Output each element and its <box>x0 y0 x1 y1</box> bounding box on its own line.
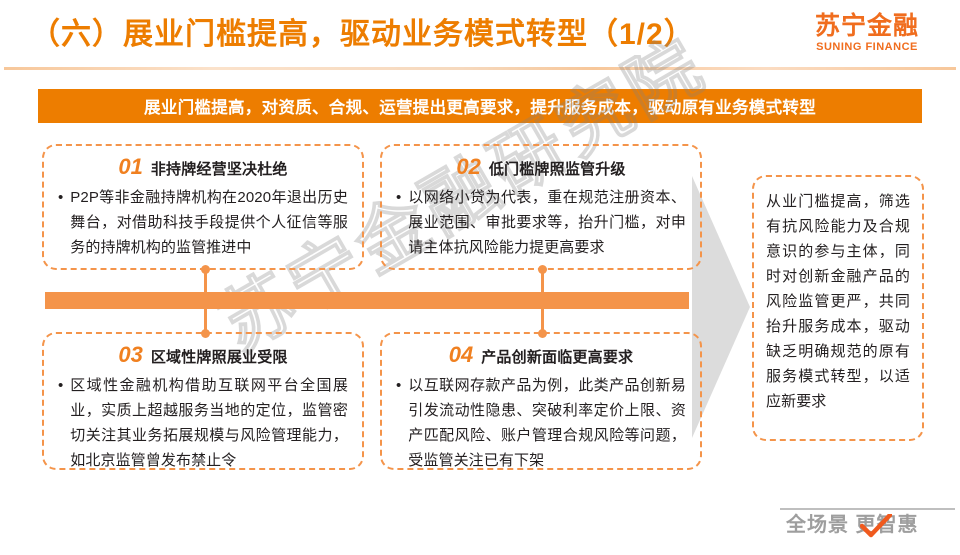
card-02-header: 02 低门槛牌照监管升级 <box>394 155 688 181</box>
footer-slogan-text: 全场景 更智惠 <box>786 512 919 538</box>
content-card-04[interactable]: 04 产品创新面临更高要求 • 以互联网存款产品为例，此类产品创新易引发流动性隐… <box>380 332 702 470</box>
content-card-01[interactable]: 01 非持牌经营坚决杜绝 • P2P等非金融持牌机构在2020年退出历史舞台，对… <box>42 144 364 270</box>
page-header: （六）展业门槛提高，驱动业务模式转型（1/2） 苏宁金融 SUNING FINA… <box>0 0 960 70</box>
card-02-title: 低门槛牌照监管升级 <box>489 159 626 181</box>
card-02-bullet-icon: • <box>396 185 401 210</box>
card-01-title: 非持牌经营坚决杜绝 <box>151 159 288 181</box>
card-03-body: • 区域性金融机构借助互联网平台全国展业，实质上超越服务当地的定位，监管密切关注… <box>56 373 350 473</box>
conclusion-box[interactable]: 从业门槛提高，筛选有抗风险能力及合规意识的参与主体，同时对创新金融产品的风险监管… <box>752 175 924 441</box>
card-04-bullet-icon: • <box>396 373 401 398</box>
card-03-title: 区域性牌照展业受限 <box>151 347 288 369</box>
brand-name-cn: 苏宁金融 <box>792 13 942 40</box>
card-04-text: 以互联网存款产品为例，此类产品创新易引发流动性隐患、突破利率定价上限、资产匹配风… <box>408 373 686 473</box>
card-02-body: • 以网络小贷为代表，重在规范注册资本、展业范围、审批要求等，抬升门槛，对申请主… <box>394 185 688 260</box>
card-01-number: 01 <box>118 155 142 179</box>
card-03-text: 区域性金融机构借助互联网平台全国展业，实质上超越服务当地的定位，监管密切关注其业… <box>70 373 348 473</box>
card-03-bullet-icon: • <box>58 373 63 398</box>
check-icon <box>860 514 892 543</box>
card-04-header: 04 产品创新面临更高要求 <box>394 343 688 369</box>
suning-finance-logo: 苏宁金融 SUNING FINANCE <box>792 13 942 54</box>
card-02-number: 02 <box>456 155 480 179</box>
timeline-bar <box>45 292 689 309</box>
header-divider <box>4 67 956 70</box>
page-title: （六）展业门槛提高，驱动业务模式转型（1/2） <box>30 16 695 54</box>
content-card-03[interactable]: 03 区域性牌照展业受限 • 区域性金融机构借助互联网平台全国展业，实质上超越服… <box>42 332 364 470</box>
footer-slogan: 全场景 更智惠 <box>786 512 956 538</box>
summary-banner-text: 展业门槛提高，对资质、合规、运营提出更高要求，提升服务成本，驱动原有业务模式转型 <box>144 94 816 118</box>
card-03-number: 03 <box>118 343 142 367</box>
card-04-title: 产品创新面临更高要求 <box>481 347 633 369</box>
content-card-02[interactable]: 02 低门槛牌照监管升级 • 以网络小贷为代表，重在规范注册资本、展业范围、审批… <box>380 144 702 270</box>
card-04-body: • 以互联网存款产品为例，此类产品创新易引发流动性隐患、突破利率定价上限、资产匹… <box>394 373 688 473</box>
card-01-body: • P2P等非金融持牌机构在2020年退出历史舞台，对借助科技手段提供个人征信等… <box>56 185 350 260</box>
summary-banner: 展业门槛提高，对资质、合规、运营提出更高要求，提升服务成本，驱动原有业务模式转型 <box>38 89 922 123</box>
card-02-text: 以网络小贷为代表，重在规范注册资本、展业范围、审批要求等，抬升门槛，对申请主体抗… <box>408 185 686 260</box>
card-01-text: P2P等非金融持牌机构在2020年退出历史舞台，对借助科技手段提供个人征信等服务… <box>70 185 348 260</box>
card-01-bullet-icon: • <box>58 185 63 210</box>
card-03-header: 03 区域性牌照展业受限 <box>56 343 350 369</box>
watermark: 苏宁金融研究院 <box>206 65 754 555</box>
footer-divider <box>780 508 955 510</box>
card-04-number: 04 <box>449 343 473 367</box>
card-01-header: 01 非持牌经营坚决杜绝 <box>56 155 350 181</box>
brand-name-en: SUNING FINANCE <box>792 40 942 54</box>
conclusion-text: 从业门槛提高，筛选有抗风险能力及合规意识的参与主体，同时对创新金融产品的风险监管… <box>766 189 910 414</box>
